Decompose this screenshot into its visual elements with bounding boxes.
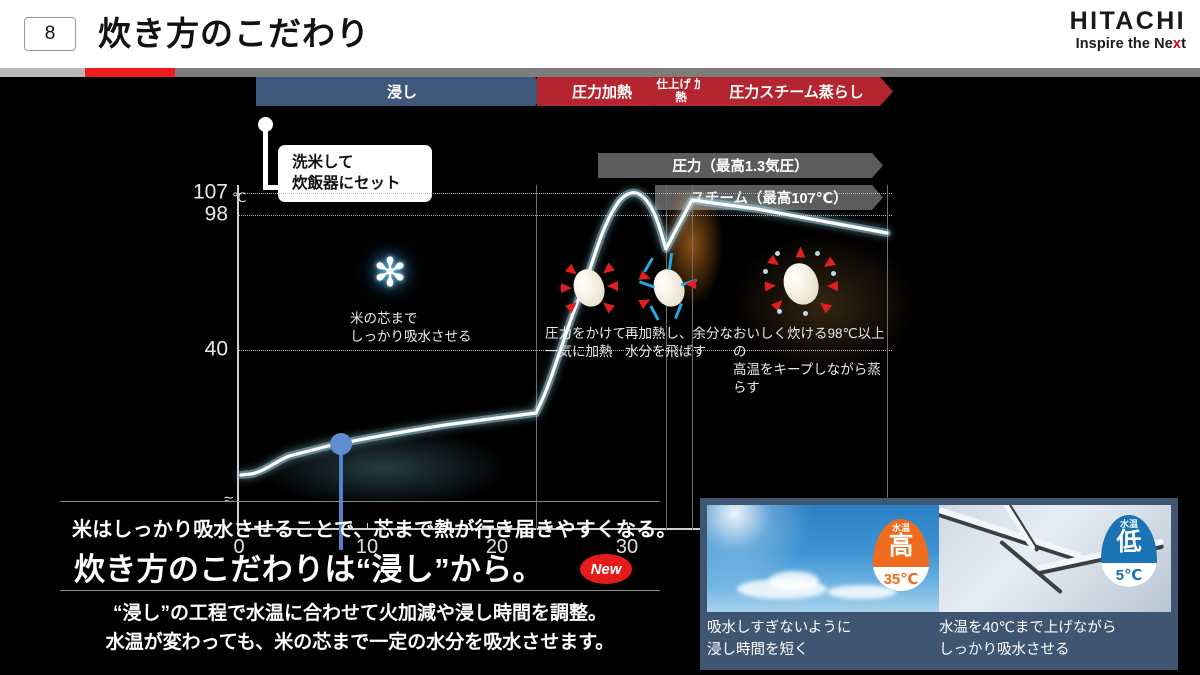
divider-top [60,501,660,502]
steam-ray-blue [649,305,659,321]
arrow-red [565,299,580,314]
arrow-red [561,283,572,293]
page-title: 炊き方のこだわり [98,8,370,60]
slide-root: 8 炊き方のこだわり HITACHI Inspire the Next ℃ 分 … [0,0,1200,675]
badge-caption-high: 水温 [892,523,910,533]
bottom-headline: 炊き方のこだわりは“浸し”から。 [74,544,544,589]
phase-label-pressure-heat: 圧力加熱 [572,81,632,102]
steam-dot [803,311,808,316]
phase-bar-finish-heat: 仕上げ 加熱 [655,77,707,106]
rice-grain-hot-icon [757,247,841,321]
arrow-red [607,281,618,291]
reheat-caption: 再加熱し、余分な 水分を飛ばす [625,325,733,361]
y-axis-break-icon: ≈ [224,495,233,505]
spec-bar-pressure: 圧力（最高1.3気圧） [598,153,883,178]
steam-dot [831,271,836,276]
accent-segment-red [85,68,175,77]
water-temp-badge-low: 水温 低 5℃ [1101,515,1157,587]
photo-caption-row: 吸水しすぎないように 浸し時間を短く 水温を40℃まで上げながら しっかり吸水さ… [707,617,1171,661]
steam-dot [815,251,820,256]
plot-region: 107 98 40 ≈ 0 10 20 30 40 50 [237,185,892,530]
logo-tagline-accent: x [1173,36,1181,52]
phase-bar-soak: 浸し [256,77,548,106]
pressure-caption: 圧力をかけて 一気に加熱 [545,325,626,361]
brand-logo: HITACHI Inspire the Next [1070,8,1186,53]
badge-top-low: 水温 低 [1101,515,1157,561]
y-tick-label-98: 98 [205,203,228,227]
bottom-lead-text: 米はしっかり吸水させることで、芯まで熱が行き届きやすくなる。 [72,513,677,542]
cloud-shape [769,571,819,591]
logo-tagline-post: t [1181,36,1186,52]
y-tick-label-107: 107 [193,181,228,205]
soak-marker-dot[interactable] [330,433,352,455]
spec-bar-pressure-label: 圧力（最高1.3気圧） [672,155,808,176]
divider-bottom [60,590,660,591]
badge-value-low: 低 [1116,529,1141,555]
accent-segment-right [175,68,1200,77]
callout-stem-vertical [263,124,268,190]
water-temp-badge-high: 水温 高 35℃ [873,519,929,591]
bottom-sub-text: “浸し”の工程で水温に合わせて火加減や浸し時間を調整。 水温が変わっても、米の芯… [60,599,660,657]
photo-panel: 水温 高 35℃ 水温 低 5 [700,498,1178,670]
steam-caption: おいしく炊ける98℃以上の 高温をキープしながら蒸らす [733,325,892,397]
badge-top-high: 水温 高 [873,519,929,565]
phase-bar-pressure-heat: 圧力加熱 [537,77,667,106]
photo-row: 水温 高 35℃ 水温 低 5 [707,505,1171,612]
phase-label-soak: 浸し [387,81,417,102]
y-tick-label-40: 40 [205,338,228,362]
phase-label-pressure-steam: 圧力スチーム蒸らし [729,81,864,102]
arrow-red [600,299,615,314]
badge-caption-low: 水温 [1120,519,1138,529]
steam-ray-blue [643,257,654,272]
photo-snowy-branches: 水温 低 5℃ [939,505,1171,612]
logo-wordmark: HITACHI [1070,8,1186,35]
steam-dot [777,309,782,314]
steam-dot [775,251,780,256]
photo-sunny-sky: 水温 高 35℃ [707,505,939,612]
arrow-red [817,299,832,314]
new-badge: New [580,554,632,584]
arrow-red [765,281,777,292]
arrow-red [796,247,806,258]
logo-tagline-pre: Inspire the Ne [1076,36,1173,52]
rice-grain [779,259,823,309]
logo-tagline: Inspire the Next [1070,35,1186,53]
page-number-badge: 8 [24,17,76,51]
rice-grain-red-arrows-icon [559,257,619,317]
arrow-red [685,279,696,289]
photo-caption-high: 吸水しすぎないように 浸し時間を短く [707,617,939,661]
photo-caption-low: 水温を40℃まで上げながら しっかり吸水させる [939,617,1171,661]
slide-header: 8 炊き方のこだわり HITACHI Inspire the Next [0,0,1200,68]
badge-temp-low: 5℃ [1101,563,1157,587]
arrow-red [600,263,615,278]
header-accent-bar [0,68,1200,77]
accent-segment-left [0,68,85,77]
snowflake-icon: ✻ [367,250,413,296]
soak-caption: 米の芯まで しっかり吸水させる [350,310,472,346]
arrow-red [821,257,836,272]
page-number-value: 8 [45,23,56,45]
arrow-red [767,255,782,270]
rice-grain-blue-red-arrows-icon [637,257,699,319]
badge-value-high: 高 [888,533,913,559]
phase-label-finish-heat: 仕上げ 加熱 [655,79,707,104]
arrow-red [827,281,838,291]
phase-bar-pressure-steam: 圧力スチーム蒸らし [700,77,893,106]
steam-dot [763,269,768,274]
badge-temp-high: 35℃ [873,567,929,591]
